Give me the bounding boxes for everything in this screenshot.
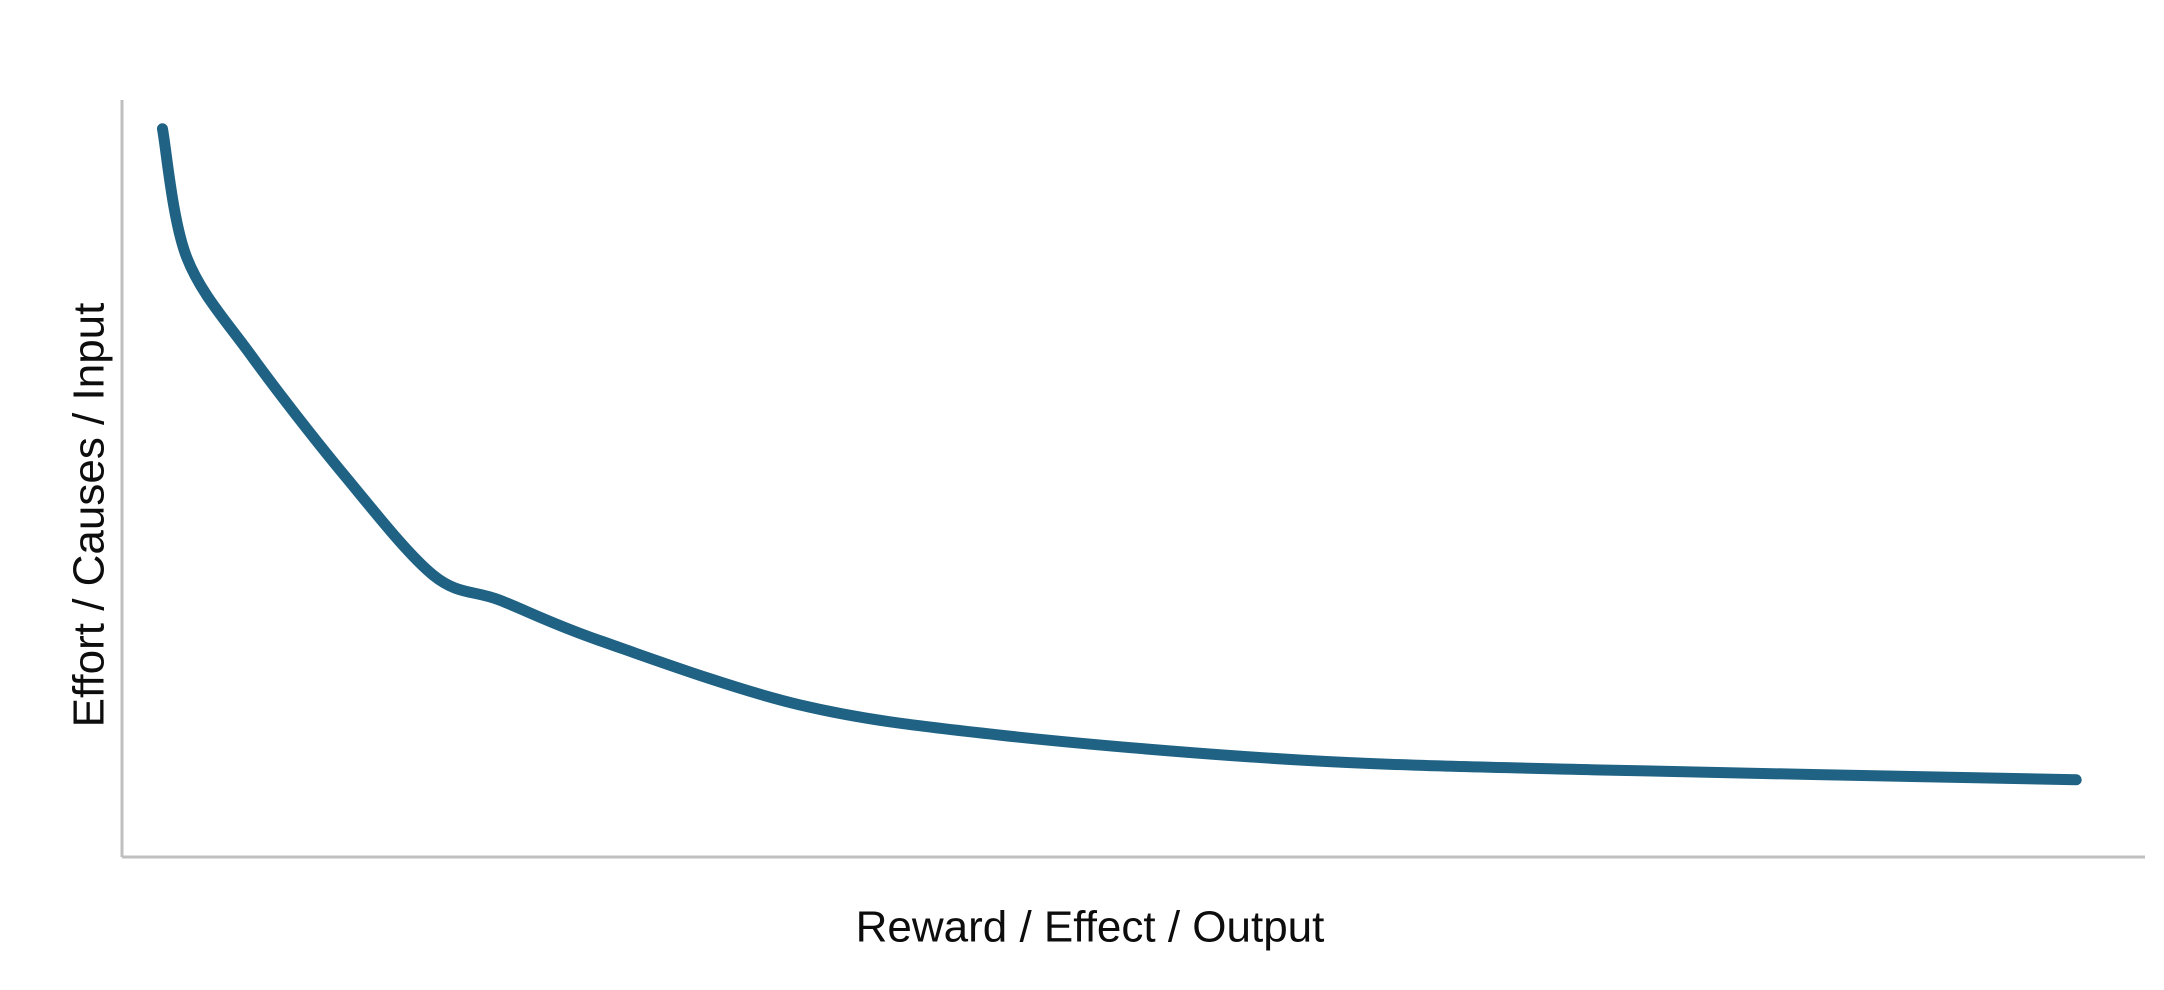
chart-background: [0, 0, 2164, 990]
chart-container: Effort / Causes / Input Reward / Effect …: [0, 0, 2164, 990]
x-axis-title: Reward / Effect / Output: [856, 903, 1325, 952]
chart-canvas: Effort / Causes / Input Reward / Effect …: [0, 0, 2164, 990]
y-axis-title: Effort / Causes / Input: [65, 303, 114, 728]
